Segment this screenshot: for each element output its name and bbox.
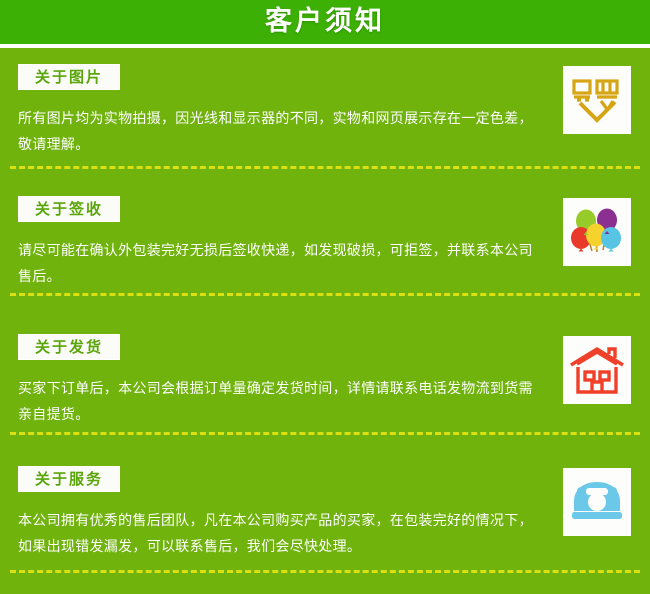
section-badge-shipping: 关于发货 xyxy=(18,334,120,360)
section-divider-4 xyxy=(10,570,640,573)
house-icon xyxy=(563,336,631,404)
telephone-icon xyxy=(563,468,631,536)
section-divider-1 xyxy=(10,166,640,169)
page-title: 客户须知 xyxy=(265,0,385,44)
balloons-icon xyxy=(563,198,631,266)
section-badge-images: 关于图片 xyxy=(18,64,120,90)
quality-seal-icon xyxy=(563,66,631,134)
section-text-images: 所有图片均为实物拍摄，因光线和显示器的不同，实物和网页展示存在一定色差，敬请理解… xyxy=(18,106,540,158)
section-text-service: 本公司拥有优秀的售后团队，凡在本公司购买产品的买家，在包装完好的情况下，如果出现… xyxy=(18,508,540,560)
section-badge-service: 关于服务 xyxy=(18,466,120,492)
badge-label: 关于服务 xyxy=(35,467,103,491)
customer-notice-banner: 客户须知 关于图片 所有图片均为实物拍摄，因光线和显示器的不同，实物和网页展示存… xyxy=(0,0,650,594)
section-badge-receipt: 关于签收 xyxy=(18,196,120,222)
notice-section-service: 关于服务 本公司拥有优秀的售后团队，凡在本公司购买产品的买家，在包装完好的情况下… xyxy=(0,466,650,582)
section-text-receipt: 请尽可能在确认外包装完好无损后签收快递，如发现破损，可拒签，并联系本公司售后。 xyxy=(18,238,540,290)
section-divider-3 xyxy=(10,432,640,435)
section-divider-2 xyxy=(10,293,640,296)
page-header: 客户须知 xyxy=(0,0,650,44)
notice-section-images: 关于图片 所有图片均为实物拍摄，因光线和显示器的不同，实物和网页展示存在一定色差… xyxy=(0,64,650,180)
badge-label: 关于发货 xyxy=(35,335,103,359)
section-text-shipping: 买家下订单后，本公司会根据订单量确定发货时间，详情请联系电话发物流到货需亲自提货… xyxy=(18,376,540,428)
notice-body: 关于图片 所有图片均为实物拍摄，因光线和显示器的不同，实物和网页展示存在一定色差… xyxy=(0,48,650,594)
badge-label: 关于图片 xyxy=(35,65,103,89)
badge-label: 关于签收 xyxy=(35,197,103,221)
